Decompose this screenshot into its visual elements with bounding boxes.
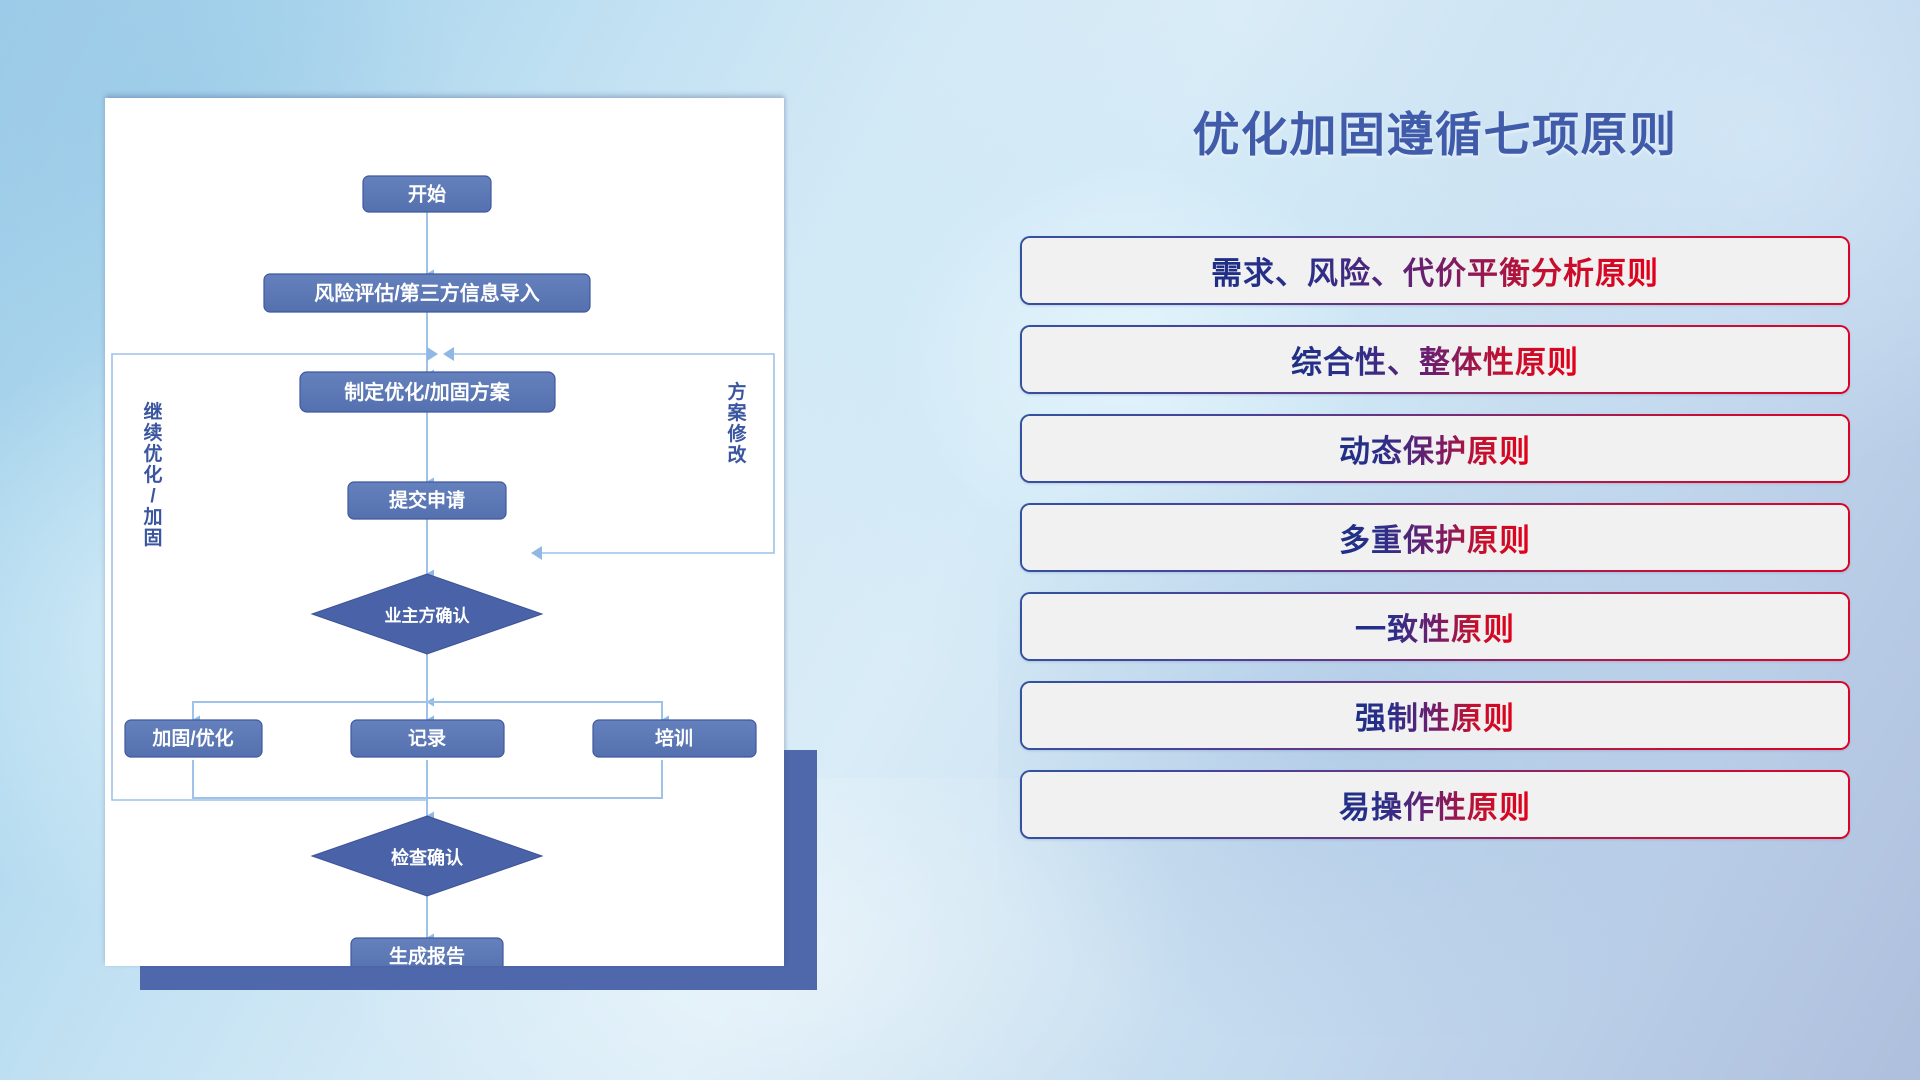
flow-node-reinforce[interactable]: 加固/优化	[125, 720, 262, 757]
connector-arrowheads-plan	[427, 347, 454, 361]
principle-card-label: 一致性原则	[1355, 604, 1515, 649]
principle-card[interactable]: 多重保护原则	[1020, 503, 1850, 572]
flow-node-report[interactable]: 生成报告	[351, 938, 503, 966]
principle-card-label: 多重保护原则	[1339, 515, 1531, 560]
flow-node-owner-confirm[interactable]: 业主方确认	[312, 574, 542, 654]
flow-panel-accent-bottom	[140, 962, 817, 990]
flow-node-check-confirm-label: 检查确认	[391, 847, 464, 868]
principle-card[interactable]: 强制性原则	[1020, 681, 1850, 750]
flow-node-report-label: 生成报告	[389, 945, 465, 967]
connector-right-loop-label: 方案修改	[726, 380, 747, 466]
flow-node-record[interactable]: 记录	[351, 720, 504, 757]
flow-node-record-label: 记录	[408, 728, 446, 750]
principle-card[interactable]: 一致性原则	[1020, 592, 1850, 661]
connector-merge-left	[193, 760, 427, 798]
flow-node-start[interactable]: 开始	[363, 176, 491, 212]
principle-card[interactable]: 综合性、整体性原则	[1020, 325, 1850, 394]
panel-title: 优化加固遵循七项原则	[1020, 96, 1850, 165]
principle-card[interactable]: 易操作性原则	[1020, 770, 1850, 839]
principle-list: 需求、风险、代价平衡分析原则 综合性、整体性原则 动态保护原则 多重保护原则 一…	[1020, 236, 1850, 859]
flow-node-risk-assessment[interactable]: 风险评估/第三方信息导入	[264, 274, 590, 312]
connector-left-loop-label: 继续优化/加固	[142, 400, 162, 549]
principle-card-label: 动态保护原则	[1339, 426, 1531, 471]
flow-node-risk-assessment-label: 风险评估/第三方信息导入	[314, 281, 540, 305]
flowchart-panel: 开始 风险评估/第三方信息导入 制定优化/加固方案 提交申请 业主方确认 加固/…	[105, 98, 784, 966]
flow-node-plan[interactable]: 制定优化/加固方案	[300, 372, 555, 412]
flow-node-start-label: 开始	[408, 183, 446, 206]
principle-card[interactable]: 需求、风险、代价平衡分析原则	[1020, 236, 1850, 305]
flow-node-reinforce-label: 加固/优化	[151, 727, 233, 750]
principle-card-label: 综合性、整体性原则	[1291, 337, 1579, 382]
principle-card-label: 易操作性原则	[1339, 782, 1531, 827]
flow-node-training[interactable]: 培训	[593, 720, 756, 757]
flow-node-training-label: 培训	[655, 727, 693, 750]
flow-node-submit-label: 提交申请	[389, 489, 465, 512]
principle-card-label: 需求、风险、代价平衡分析原则	[1211, 248, 1659, 293]
flowchart-diagram: 开始 风险评估/第三方信息导入 制定优化/加固方案 提交申请 业主方确认 加固/…	[105, 98, 784, 966]
connector-arrowhead-right-loop	[531, 546, 542, 560]
flow-node-submit[interactable]: 提交申请	[348, 482, 506, 519]
connector-fan-right	[427, 702, 662, 720]
flow-node-plan-label: 制定优化/加固方案	[344, 380, 511, 404]
principle-card[interactable]: 动态保护原则	[1020, 414, 1850, 483]
flow-node-owner-confirm-label: 业主方确认	[385, 606, 471, 626]
connector-merge-right	[427, 760, 662, 798]
principles-panel: 优化加固遵循七项原则 需求、风险、代价平衡分析原则 综合性、整体性原则 动态保护…	[1020, 96, 1850, 996]
flow-node-check-confirm[interactable]: 检查确认	[312, 816, 542, 896]
connector-fan-left	[193, 702, 427, 720]
principle-card-label: 强制性原则	[1355, 693, 1515, 738]
